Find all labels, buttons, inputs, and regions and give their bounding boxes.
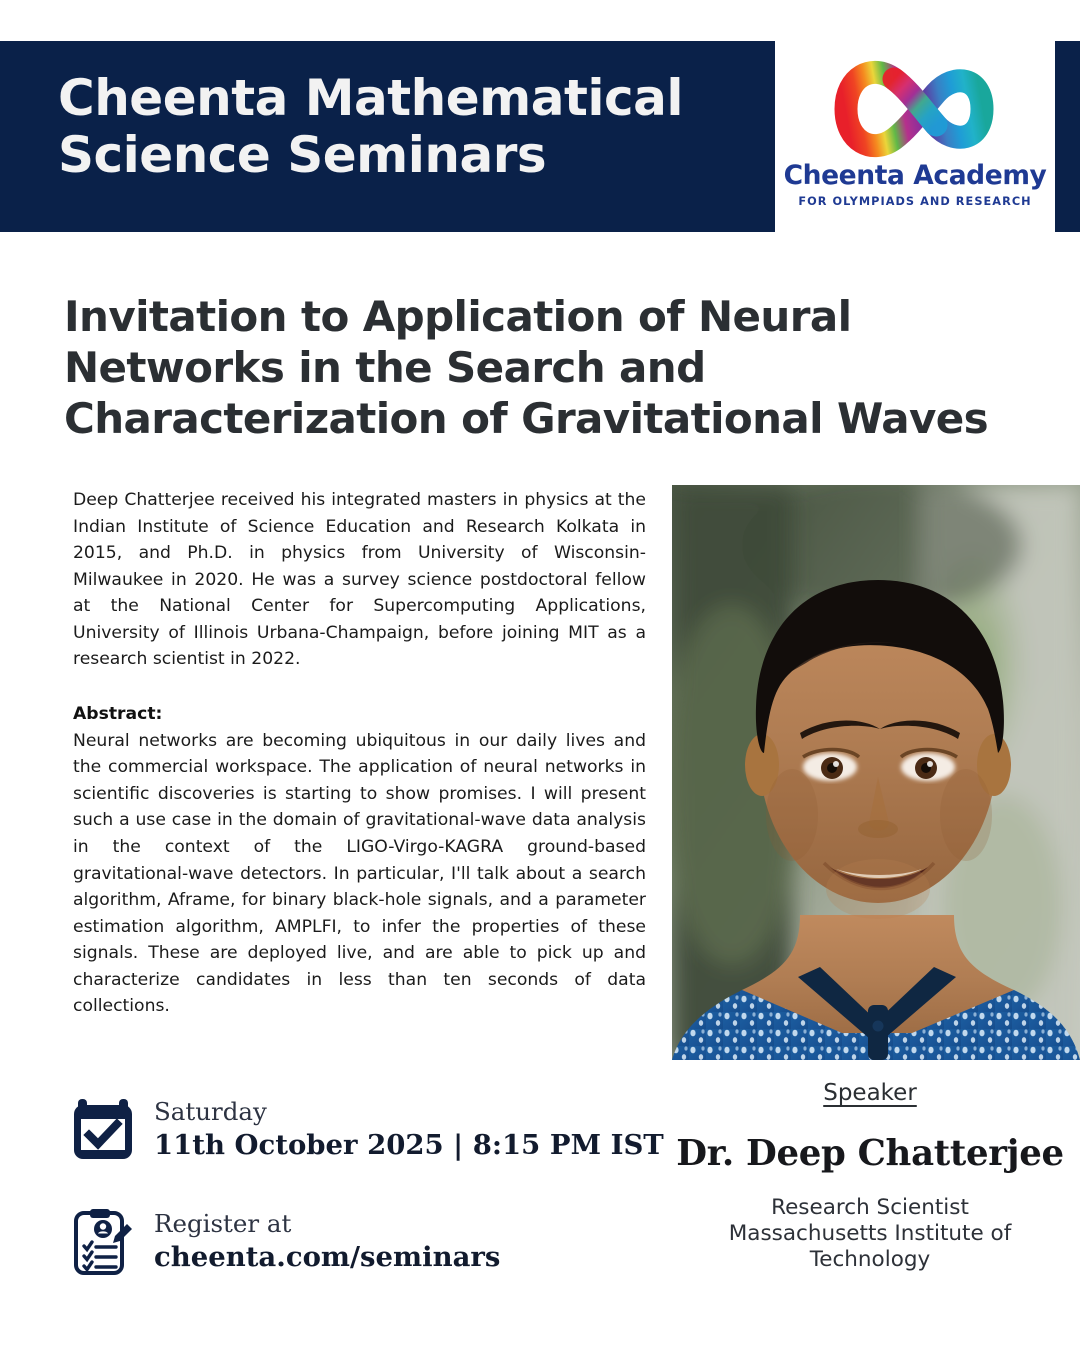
speaker-role-line-2: Massachusetts Institute of: [660, 1221, 1080, 1247]
logo-tagline: FOR OLYMPIADS AND RESEARCH: [798, 195, 1031, 208]
org-title-line-2: Science Seminars: [58, 127, 748, 184]
event-date-row: Saturday 11th October 2025 | 8:15 PM IST: [72, 1096, 672, 1166]
register-url[interactable]: cheenta.com/seminars: [154, 1241, 500, 1274]
speaker-name: Dr. Deep Chatterjee: [660, 1134, 1080, 1173]
speaker-block: Speaker Dr. Deep Chatterjee Research Sci…: [660, 1080, 1080, 1273]
speaker-portrait-image: [672, 485, 1080, 1060]
calendar-check-icon: [72, 1096, 134, 1166]
event-info-rows: Saturday 11th October 2025 | 8:15 PM IST: [72, 1096, 672, 1278]
seminar-poster: Cheenta Mathematical Science Seminars: [0, 0, 1080, 1350]
register-row[interactable]: Register at cheenta.com/seminars: [72, 1208, 672, 1278]
talk-title-line-3: Characterization of Gravitational Waves: [64, 394, 1024, 445]
talk-title-line-2: Networks in the Search and: [64, 343, 1024, 394]
event-datetime-value: 11th October 2025 | 8:15 PM IST: [154, 1129, 664, 1162]
register-label: Register at: [154, 1210, 500, 1238]
event-date-text: Saturday 11th October 2025 | 8:15 PM IST: [154, 1096, 664, 1162]
speaker-photo: [672, 485, 1080, 1060]
talk-title-line-1: Invitation to Application of Neural: [64, 292, 1024, 343]
event-day-label: Saturday: [154, 1098, 664, 1126]
org-title-line-1: Cheenta Mathematical: [58, 70, 748, 127]
brand-logo-panel: Cheenta Academy FOR OLYMPIADS AND RESEAR…: [775, 41, 1055, 232]
speaker-role-line-1: Research Scientist: [660, 1195, 1080, 1221]
description-column: Deep Chatterjee received his integrated …: [73, 487, 646, 1020]
clipboard-register-icon: [72, 1208, 134, 1278]
organization-title: Cheenta Mathematical Science Seminars: [58, 70, 748, 183]
register-text: Register at cheenta.com/seminars: [154, 1208, 500, 1274]
talk-title: Invitation to Application of Neural Netw…: [64, 292, 1024, 444]
speaker-section-label: Speaker: [660, 1080, 1080, 1108]
infinity-logo-icon: [786, 49, 1044, 169]
abstract-label: Abstract:: [73, 701, 646, 728]
speaker-affiliation: Research Scientist Massachusetts Institu…: [660, 1195, 1080, 1274]
speaker-bio-paragraph: Deep Chatterjee received his integrated …: [73, 487, 646, 673]
logo-wordmark: Cheenta Academy: [784, 163, 1047, 190]
abstract-block: Abstract: Neural networks are becoming u…: [73, 701, 646, 1020]
speaker-role-line-3: Technology: [660, 1247, 1080, 1273]
abstract-paragraph: Neural networks are becoming ubiquitous …: [73, 728, 646, 1020]
